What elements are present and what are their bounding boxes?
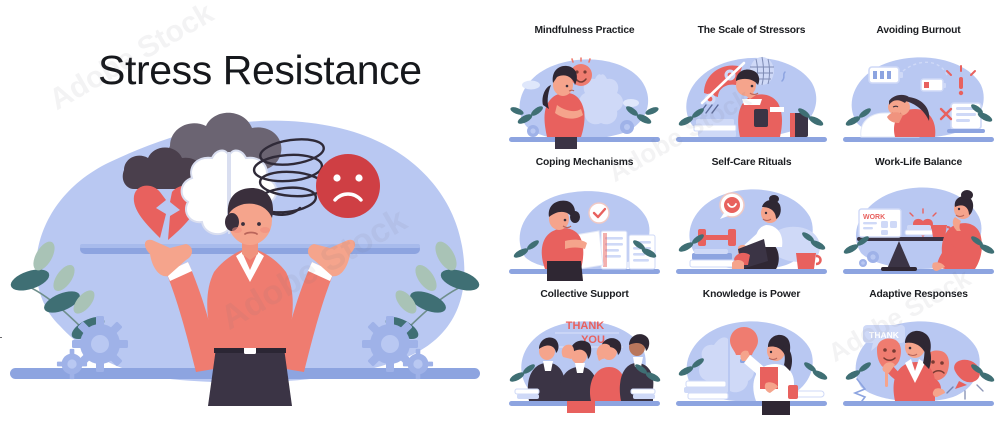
- skirt: [208, 348, 292, 406]
- scene-card-self-care-rituals[interactable]: Self-Care Rituals: [670, 157, 833, 292]
- scene-illustration: [670, 305, 833, 417]
- mug-icon: [796, 253, 821, 269]
- monitor-icon: WORK: [859, 209, 901, 237]
- scene-card-adaptive-responses[interactable]: Adaptive Responses THANK: [837, 289, 1000, 424]
- hero-illustration: [0, 96, 500, 406]
- scene-title: Self-Care Rituals: [670, 157, 833, 168]
- monitor-screen-label: WORK: [863, 214, 885, 221]
- scene-illustration: [503, 41, 666, 153]
- battery-full-icon: [869, 67, 903, 83]
- scene-title: Collective Support: [503, 289, 666, 300]
- bubble-label: THANK: [869, 330, 900, 340]
- scene-illustration: WORK: [837, 173, 1000, 285]
- scene-title: Mindfulness Practice: [503, 25, 666, 36]
- scene-title: Knowledge is Power: [670, 289, 833, 300]
- scene-card-knowledge-is-power[interactable]: Knowledge is Power: [670, 289, 833, 424]
- scene-card-avoiding-burnout[interactable]: Avoiding Burnout: [837, 25, 1000, 160]
- scene-illustration: [503, 173, 666, 285]
- page-title: Stress Resistance: [98, 48, 478, 93]
- scene-grid: Mindfulness Practice: [503, 0, 1000, 422]
- illustration-canvas: Stress Resistance: [0, 0, 1000, 422]
- scene-illustration: [837, 41, 1000, 153]
- scene-title: Adaptive Responses: [837, 289, 1000, 300]
- scene-title: Avoiding Burnout: [837, 25, 1000, 36]
- scene-card-mindfulness-practice[interactable]: Mindfulness Practice: [503, 25, 666, 160]
- banner-line-1: THANK: [566, 320, 605, 332]
- check-badge-icon: [589, 203, 609, 223]
- scene-card-the-scale-of-stressors[interactable]: The Scale of Stressors: [670, 25, 833, 160]
- battery-low-icon: [921, 79, 946, 91]
- scene-illustration: THANK: [837, 305, 1000, 417]
- scene-title: Work-Life Balance: [837, 157, 1000, 168]
- books-icon: [905, 225, 933, 235]
- scene-title: Coping Mechanisms: [503, 157, 666, 168]
- hero-panel: Stress Resistance: [0, 0, 500, 422]
- books-icon: [690, 249, 734, 267]
- scene-illustration: [670, 41, 833, 153]
- watermark-id: Adobe Stock | #670146842: [0, 276, 3, 400]
- sad-face-icon: [316, 154, 380, 218]
- scene-illustration: [670, 173, 833, 285]
- scene-card-coping-mechanisms[interactable]: Coping Mechanisms: [503, 157, 666, 292]
- scene-illustration: THANK YOU: [503, 305, 666, 417]
- scene-title: The Scale of Stressors: [670, 25, 833, 36]
- scene-card-work-life-balance[interactable]: Work-Life Balance WORK: [837, 157, 1000, 292]
- scene-card-collective-support[interactable]: Collective Support THANK YOU: [503, 289, 666, 424]
